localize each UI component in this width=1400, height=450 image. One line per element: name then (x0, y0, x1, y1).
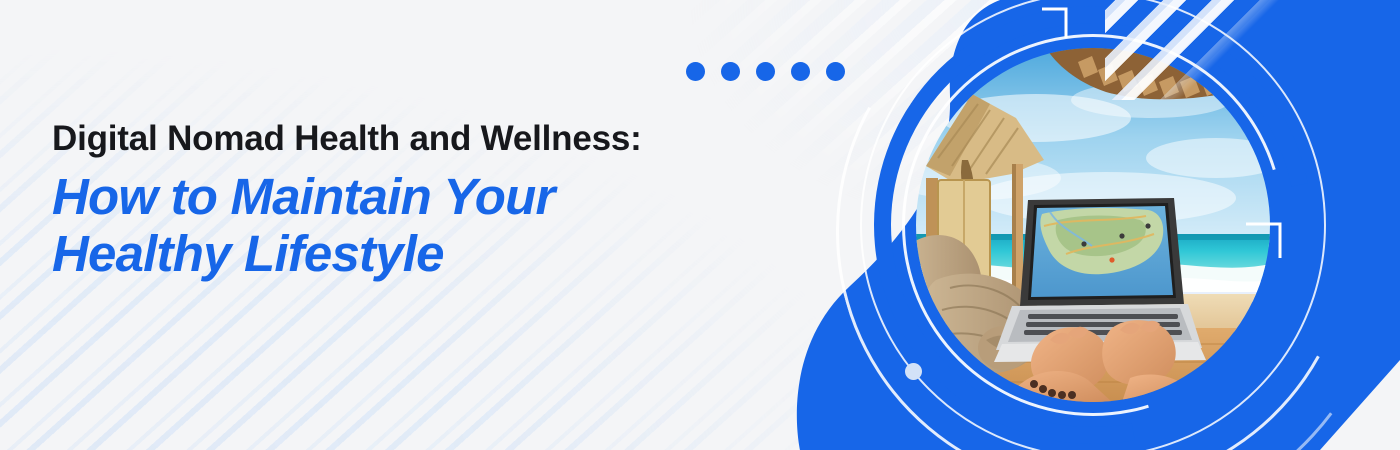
headline-line-2: How to Maintain Your (52, 168, 812, 225)
dot-icon-1 (686, 62, 705, 81)
beach-laptop-photo (916, 48, 1270, 402)
headline-line-3: Healthy Lifestyle (52, 225, 812, 282)
headline-block: Digital Nomad Health and Wellness: How t… (52, 118, 812, 282)
photo-medallion (860, 0, 1326, 450)
promo-banner: Digital Nomad Health and Wellness: How t… (0, 0, 1400, 450)
arc-node-dot (905, 363, 922, 380)
dot-icon-4 (791, 62, 810, 81)
dot-icon-5 (826, 62, 845, 81)
dot-icon-2 (721, 62, 740, 81)
decorative-dots (686, 62, 845, 81)
headline-line-1: Digital Nomad Health and Wellness: (52, 118, 812, 161)
dot-icon-3 (756, 62, 775, 81)
